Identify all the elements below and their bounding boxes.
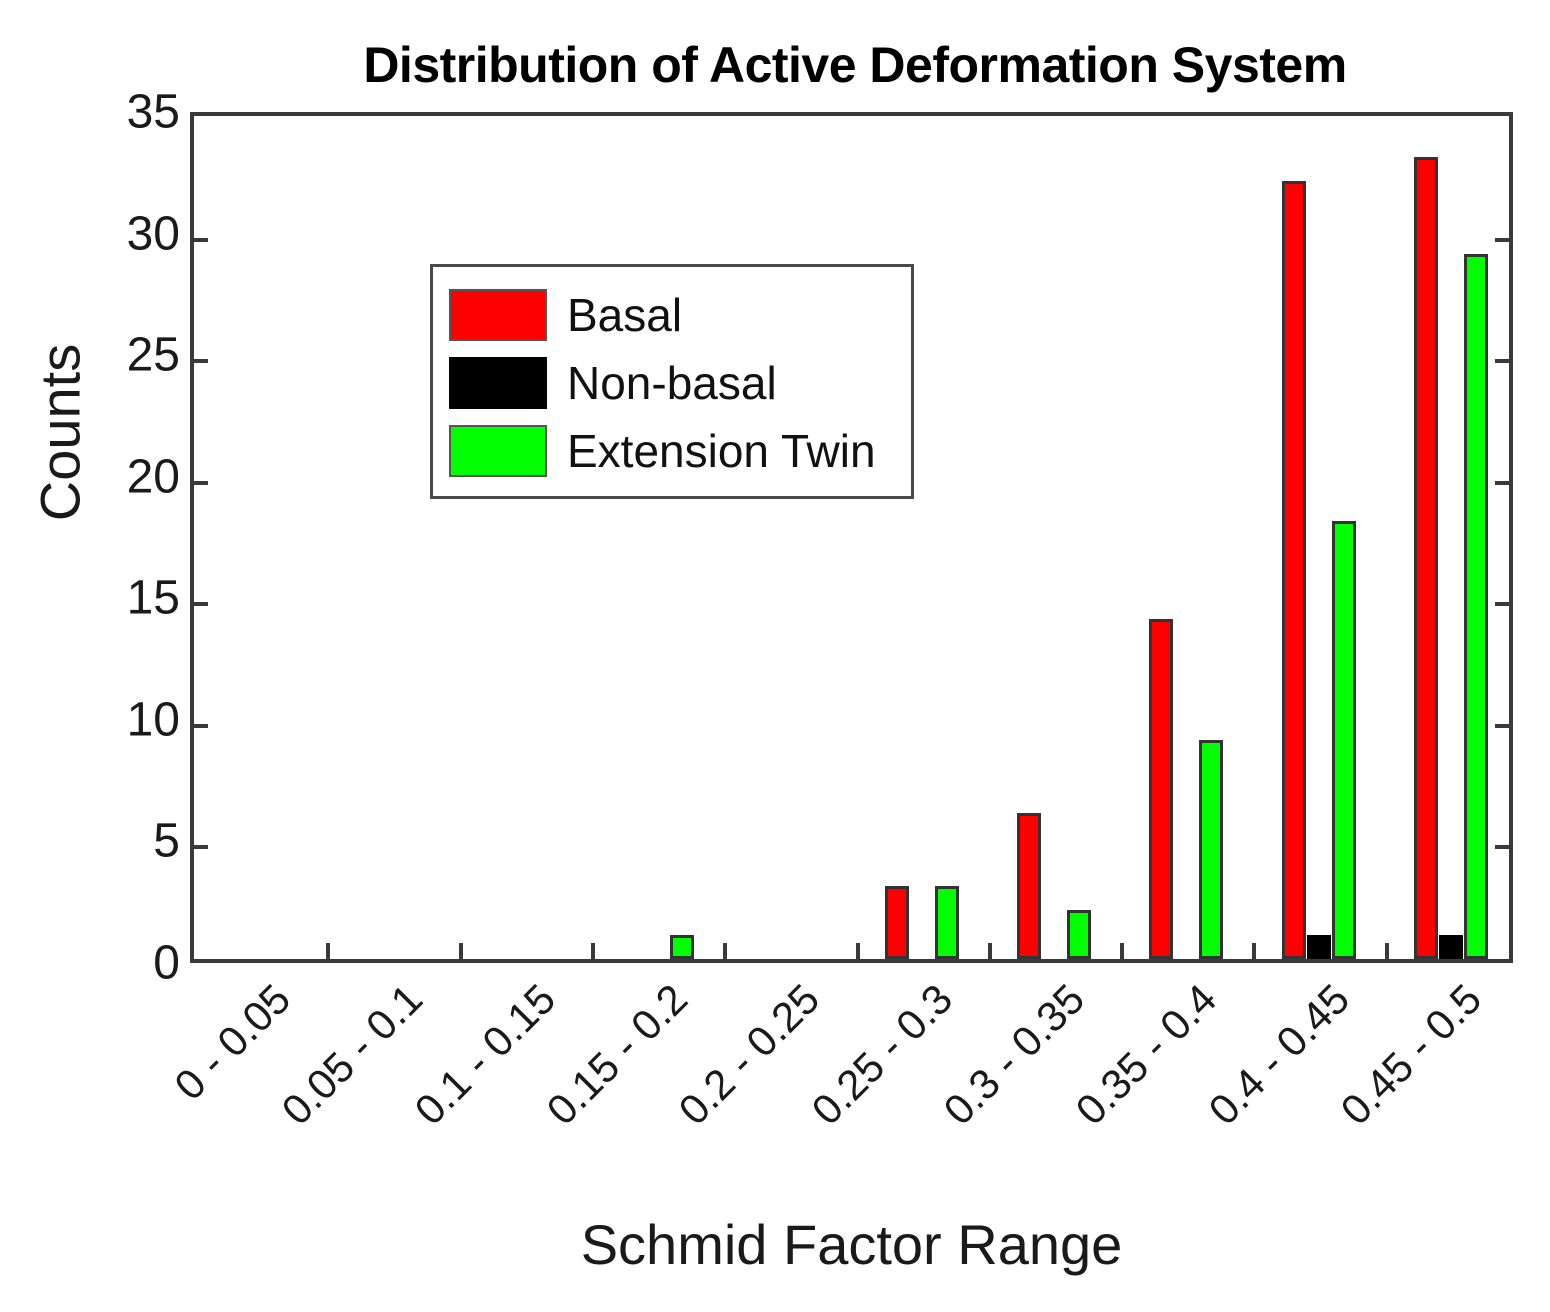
plot-area: Basal Non-basal Extension Twin [190, 112, 1513, 963]
legend-item-basal: Basal [449, 281, 911, 349]
bar-basal-9 [1414, 157, 1438, 959]
bar-basal-6 [1017, 813, 1041, 959]
x-tick-mark [1120, 943, 1124, 959]
legend-swatch-twin-icon [449, 425, 547, 477]
x-tick-mark [591, 943, 595, 959]
bar-extension-twin-7 [1199, 740, 1223, 959]
y-tick-mark [194, 359, 208, 363]
x-tick-mark [723, 943, 727, 959]
bar-extension-twin-3 [670, 935, 694, 959]
y-tick-mark [194, 602, 208, 606]
x-tick-mark [988, 943, 992, 959]
bar-extension-twin-6 [1067, 910, 1091, 959]
bar-extension-twin-9 [1464, 254, 1488, 959]
y-tick-mark [1495, 481, 1509, 485]
bar-non-basal-8 [1307, 935, 1331, 959]
y-tick-label: 35 [60, 85, 180, 140]
bar-extension-twin-5 [935, 886, 959, 959]
x-tick-mark [856, 943, 860, 959]
y-tick-mark [1495, 845, 1509, 849]
y-tick-mark [1495, 238, 1509, 242]
bar-basal-7 [1149, 619, 1173, 959]
x-axis-title: Schmid Factor Range [190, 1212, 1513, 1277]
x-axis-tick-labels: 0 - 0.050.05 - 0.10.1 - 0.150.15 - 0.20.… [190, 975, 1513, 1185]
legend-swatch-nonbasal-icon [449, 357, 547, 409]
y-axis-title: Counts [28, 233, 93, 633]
y-tick-label: 0 [60, 936, 180, 991]
x-tick-mark [1252, 943, 1256, 959]
y-tick-mark [194, 724, 208, 728]
y-tick-mark [194, 845, 208, 849]
x-tick-mark [326, 943, 330, 959]
legend-label-twin: Extension Twin [567, 428, 876, 474]
legend-label-nonbasal: Non-basal [567, 360, 777, 406]
legend-swatch-basal-icon [449, 289, 547, 341]
y-tick-mark [1495, 602, 1509, 606]
x-tick-mark [459, 943, 463, 959]
bar-non-basal-9 [1439, 935, 1463, 959]
x-tick-mark [1385, 943, 1389, 959]
y-tick-mark [194, 238, 208, 242]
y-tick-mark [194, 481, 208, 485]
y-tick-mark [1495, 724, 1509, 728]
plot-inner [194, 116, 1509, 959]
bar-extension-twin-8 [1332, 521, 1356, 959]
legend-item-twin: Extension Twin [449, 417, 911, 485]
legend-label-basal: Basal [567, 292, 682, 338]
bar-basal-8 [1282, 181, 1306, 959]
y-tick-mark [1495, 359, 1509, 363]
y-tick-label: 5 [60, 814, 180, 869]
chart-figure: Distribution of Active Deformation Syste… [0, 0, 1550, 1312]
chart-title: Distribution of Active Deformation Syste… [190, 36, 1520, 94]
bar-basal-5 [885, 886, 909, 959]
y-tick-label: 10 [60, 692, 180, 747]
legend-item-nonbasal: Non-basal [449, 349, 911, 417]
chart-legend: Basal Non-basal Extension Twin [430, 264, 914, 499]
